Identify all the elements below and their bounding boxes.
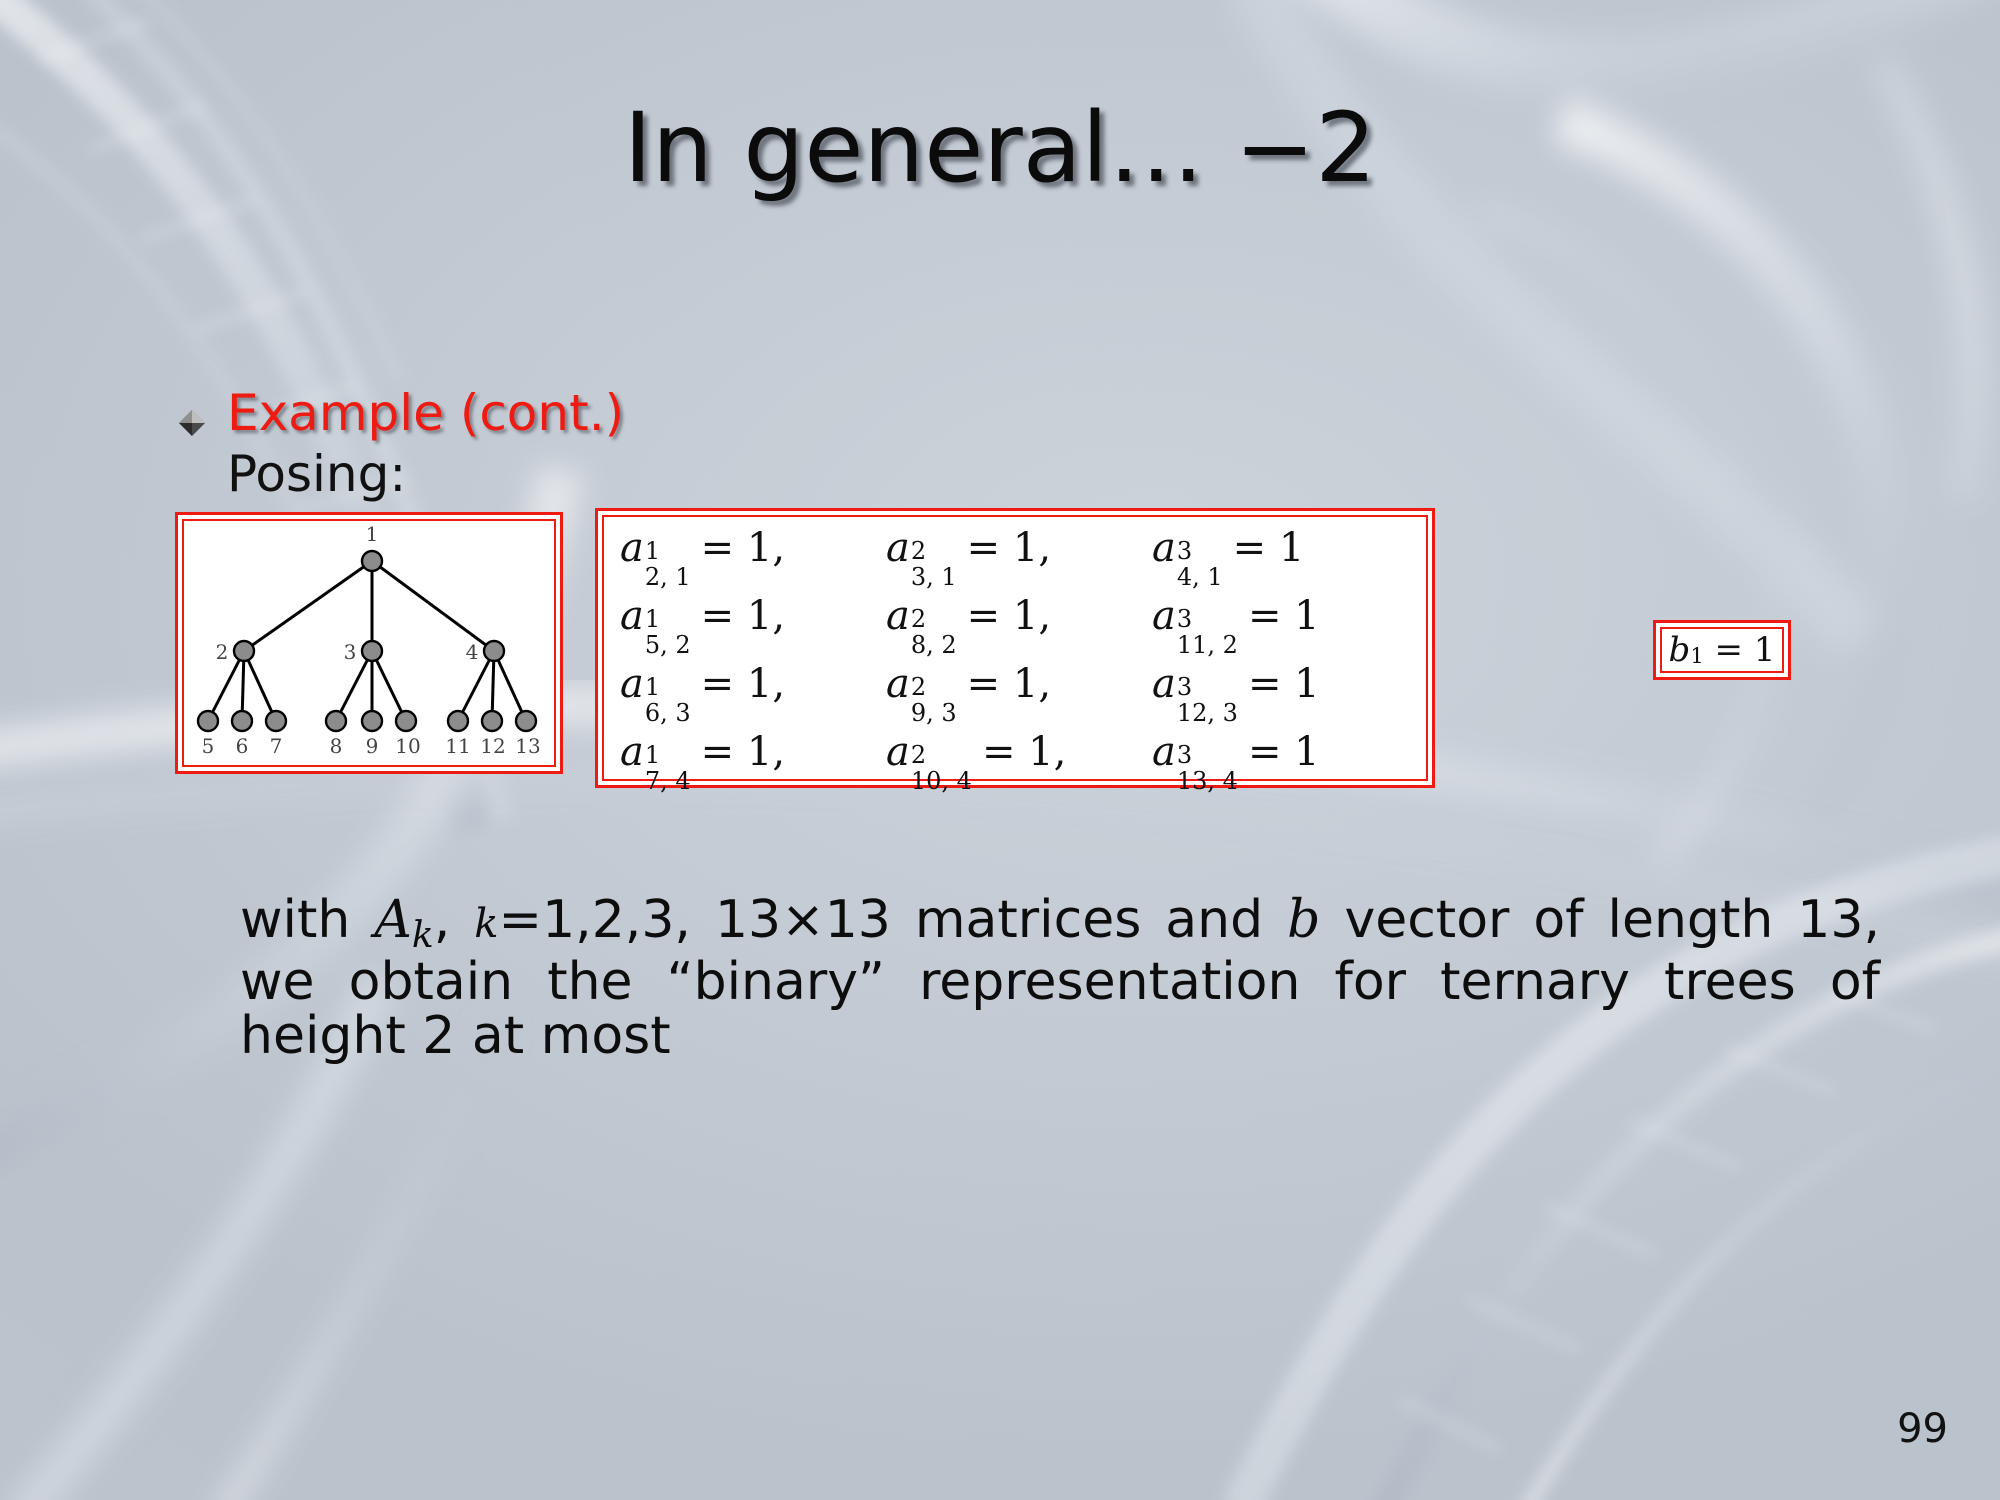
equation-subscript: 4, 1: [1177, 565, 1223, 589]
equation-indices: 313, 4: [1177, 743, 1238, 793]
equation-superscript: 3: [1177, 743, 1192, 767]
svg-text:10: 10: [395, 734, 420, 758]
svg-text:2: 2: [216, 640, 229, 664]
svg-text:5: 5: [202, 734, 215, 758]
slide-number: 99: [1897, 1406, 1948, 1452]
closing-paragraph: with Ak, k=1,2,3, 13×13 matrices and b v…: [240, 893, 1880, 1063]
svg-text:8: 8: [330, 734, 343, 758]
equation-right-hand-side: = 1,: [691, 661, 785, 707]
equation-r3-c1: a16, 3= 1,: [620, 661, 886, 727]
equation-right-hand-side: = 1: [1238, 729, 1320, 775]
equation-subscript: 13, 4: [1177, 769, 1238, 793]
equation-superscript: 2: [911, 743, 926, 767]
paragraph-part-3: =1,2,3, 13×13 matrices and: [499, 890, 1288, 950]
example-heading: Example (cont.): [227, 388, 624, 438]
equation-indices: 311, 2: [1177, 607, 1238, 657]
equation-base-symbol: a: [886, 661, 911, 707]
equation-r2-c3: a311, 2= 1: [1152, 593, 1418, 659]
equation-indices: 15, 2: [645, 607, 691, 657]
equation-indices: 34, 1: [1177, 539, 1223, 589]
equation-right-hand-side: = 1,: [691, 525, 785, 571]
ternary-tree-diagram: 1 2 3 4 5 6 7 8 9 10 11 12 13: [186, 523, 558, 769]
equation-subscript: 10, 4: [911, 769, 972, 793]
equation-r1-c1: a12, 1= 1,: [620, 525, 886, 591]
equation-subscript: 2, 1: [645, 565, 691, 589]
equation-indices: 12, 1: [645, 539, 691, 589]
equation-right-hand-side: = 1,: [691, 593, 785, 639]
matrix-subscript-k: k: [412, 915, 434, 956]
equation-r2-c2: a28, 2= 1,: [886, 593, 1152, 659]
equation-base-symbol: a: [1152, 729, 1177, 775]
bullet-row: Example (cont.): [175, 388, 1895, 440]
index-symbol-k: k: [474, 901, 498, 947]
equation-base-symbol: a: [1152, 661, 1177, 707]
equation-right-hand-side: = 1,: [957, 593, 1051, 639]
slide-canvas: In general… −2 Example (cont.) Posing:: [0, 0, 2000, 1500]
matrix-symbol-A: A: [374, 890, 412, 950]
b-subscript: 1: [1690, 644, 1703, 668]
equation-base-symbol: a: [886, 729, 911, 775]
equation-superscript: 3: [1177, 539, 1192, 563]
equation-base-symbol: a: [620, 661, 645, 707]
body-text-block: Example (cont.) Posing:: [175, 388, 1895, 501]
svg-text:9: 9: [366, 734, 379, 758]
svg-text:7: 7: [270, 734, 283, 758]
equation-r4-c3: a313, 4= 1: [1152, 729, 1418, 795]
vector-symbol-b: b: [1287, 890, 1320, 950]
equation-right-hand-side: = 1,: [972, 729, 1066, 775]
posing-label: Posing:: [227, 448, 1895, 501]
equation-subscript: 8, 2: [911, 633, 957, 657]
equation-superscript: 3: [1177, 675, 1192, 699]
equation-superscript: 1: [645, 539, 660, 563]
diamond-bullet-icon: [175, 406, 209, 440]
paragraph-part-1: with: [240, 890, 374, 950]
equation-base-symbol: a: [620, 729, 645, 775]
equation-superscript: 2: [911, 539, 926, 563]
svg-text:4: 4: [466, 640, 479, 664]
svg-text:12: 12: [480, 734, 505, 758]
equations-grid: a12, 1= 1,a23, 1= 1,a34, 1= 1a15, 2= 1,a…: [620, 525, 1418, 775]
equation-base-symbol: a: [886, 525, 911, 571]
b-rhs: = 1: [1715, 630, 1776, 670]
equation-base-symbol: a: [1152, 593, 1177, 639]
equation-base-symbol: a: [620, 593, 645, 639]
equation-subscript: 11, 2: [1177, 633, 1238, 657]
equation-right-hand-side: = 1: [1223, 525, 1305, 571]
equation-indices: 17, 4: [645, 743, 691, 793]
equation-indices: 210, 4: [911, 743, 972, 793]
equation-r2-c1: a15, 2= 1,: [620, 593, 886, 659]
equation-base-symbol: a: [886, 593, 911, 639]
equation-indices: 23, 1: [911, 539, 957, 589]
b-vector-figure-box: b1 = 1: [1653, 620, 1791, 680]
equation-subscript: 3, 1: [911, 565, 957, 589]
equation-right-hand-side: = 1,: [691, 729, 785, 775]
equation-r4-c1: a17, 4= 1,: [620, 729, 886, 795]
equation-subscript: 12, 3: [1177, 701, 1238, 725]
paragraph-part-2: ,: [434, 890, 475, 950]
equation-superscript: 1: [645, 743, 660, 767]
equation-superscript: 2: [911, 675, 926, 699]
svg-text:6: 6: [236, 734, 249, 758]
equation-right-hand-side: = 1,: [957, 661, 1051, 707]
equations-figure-box: a12, 1= 1,a23, 1= 1,a34, 1= 1a15, 2= 1,a…: [595, 508, 1435, 788]
equation-r4-c2: a210, 4= 1,: [886, 729, 1152, 795]
slide-title: In general… −2: [0, 92, 2000, 204]
equation-r3-c2: a29, 3= 1,: [886, 661, 1152, 727]
svg-text:1: 1: [366, 523, 379, 546]
equation-subscript: 9, 3: [911, 701, 957, 725]
equation-subscript: 5, 2: [645, 633, 691, 657]
b-base-symbol: b: [1669, 630, 1691, 670]
equation-base-symbol: a: [1152, 525, 1177, 571]
equation-subscript: 6, 3: [645, 701, 691, 725]
equation-superscript: 3: [1177, 607, 1192, 631]
equation-right-hand-side: = 1,: [957, 525, 1051, 571]
equation-right-hand-side: = 1: [1238, 593, 1320, 639]
svg-text:13: 13: [515, 734, 540, 758]
equation-superscript: 1: [645, 675, 660, 699]
equation-base-symbol: a: [620, 525, 645, 571]
equation-indices: 312, 3: [1177, 675, 1238, 725]
equation-superscript: 1: [645, 607, 660, 631]
ternary-tree-figure-box: 1 2 3 4 5 6 7 8 9 10 11 12 13: [175, 512, 563, 774]
equation-r3-c3: a312, 3= 1: [1152, 661, 1418, 727]
equation-right-hand-side: = 1: [1238, 661, 1320, 707]
equation-r1-c2: a23, 1= 1,: [886, 525, 1152, 591]
equation-subscript: 7, 4: [645, 769, 691, 793]
svg-text:3: 3: [344, 640, 357, 664]
equation-indices: 28, 2: [911, 607, 957, 657]
equation-superscript: 2: [911, 607, 926, 631]
b-vector-equation: b1 = 1: [1656, 623, 1788, 677]
figures-row: 1 2 3 4 5 6 7 8 9 10 11 12 13 a12, 1= 1,…: [175, 508, 1905, 873]
svg-text:11: 11: [445, 734, 470, 758]
equation-indices: 16, 3: [645, 675, 691, 725]
equation-r1-c3: a34, 1= 1: [1152, 525, 1418, 591]
equation-indices: 29, 3: [911, 675, 957, 725]
